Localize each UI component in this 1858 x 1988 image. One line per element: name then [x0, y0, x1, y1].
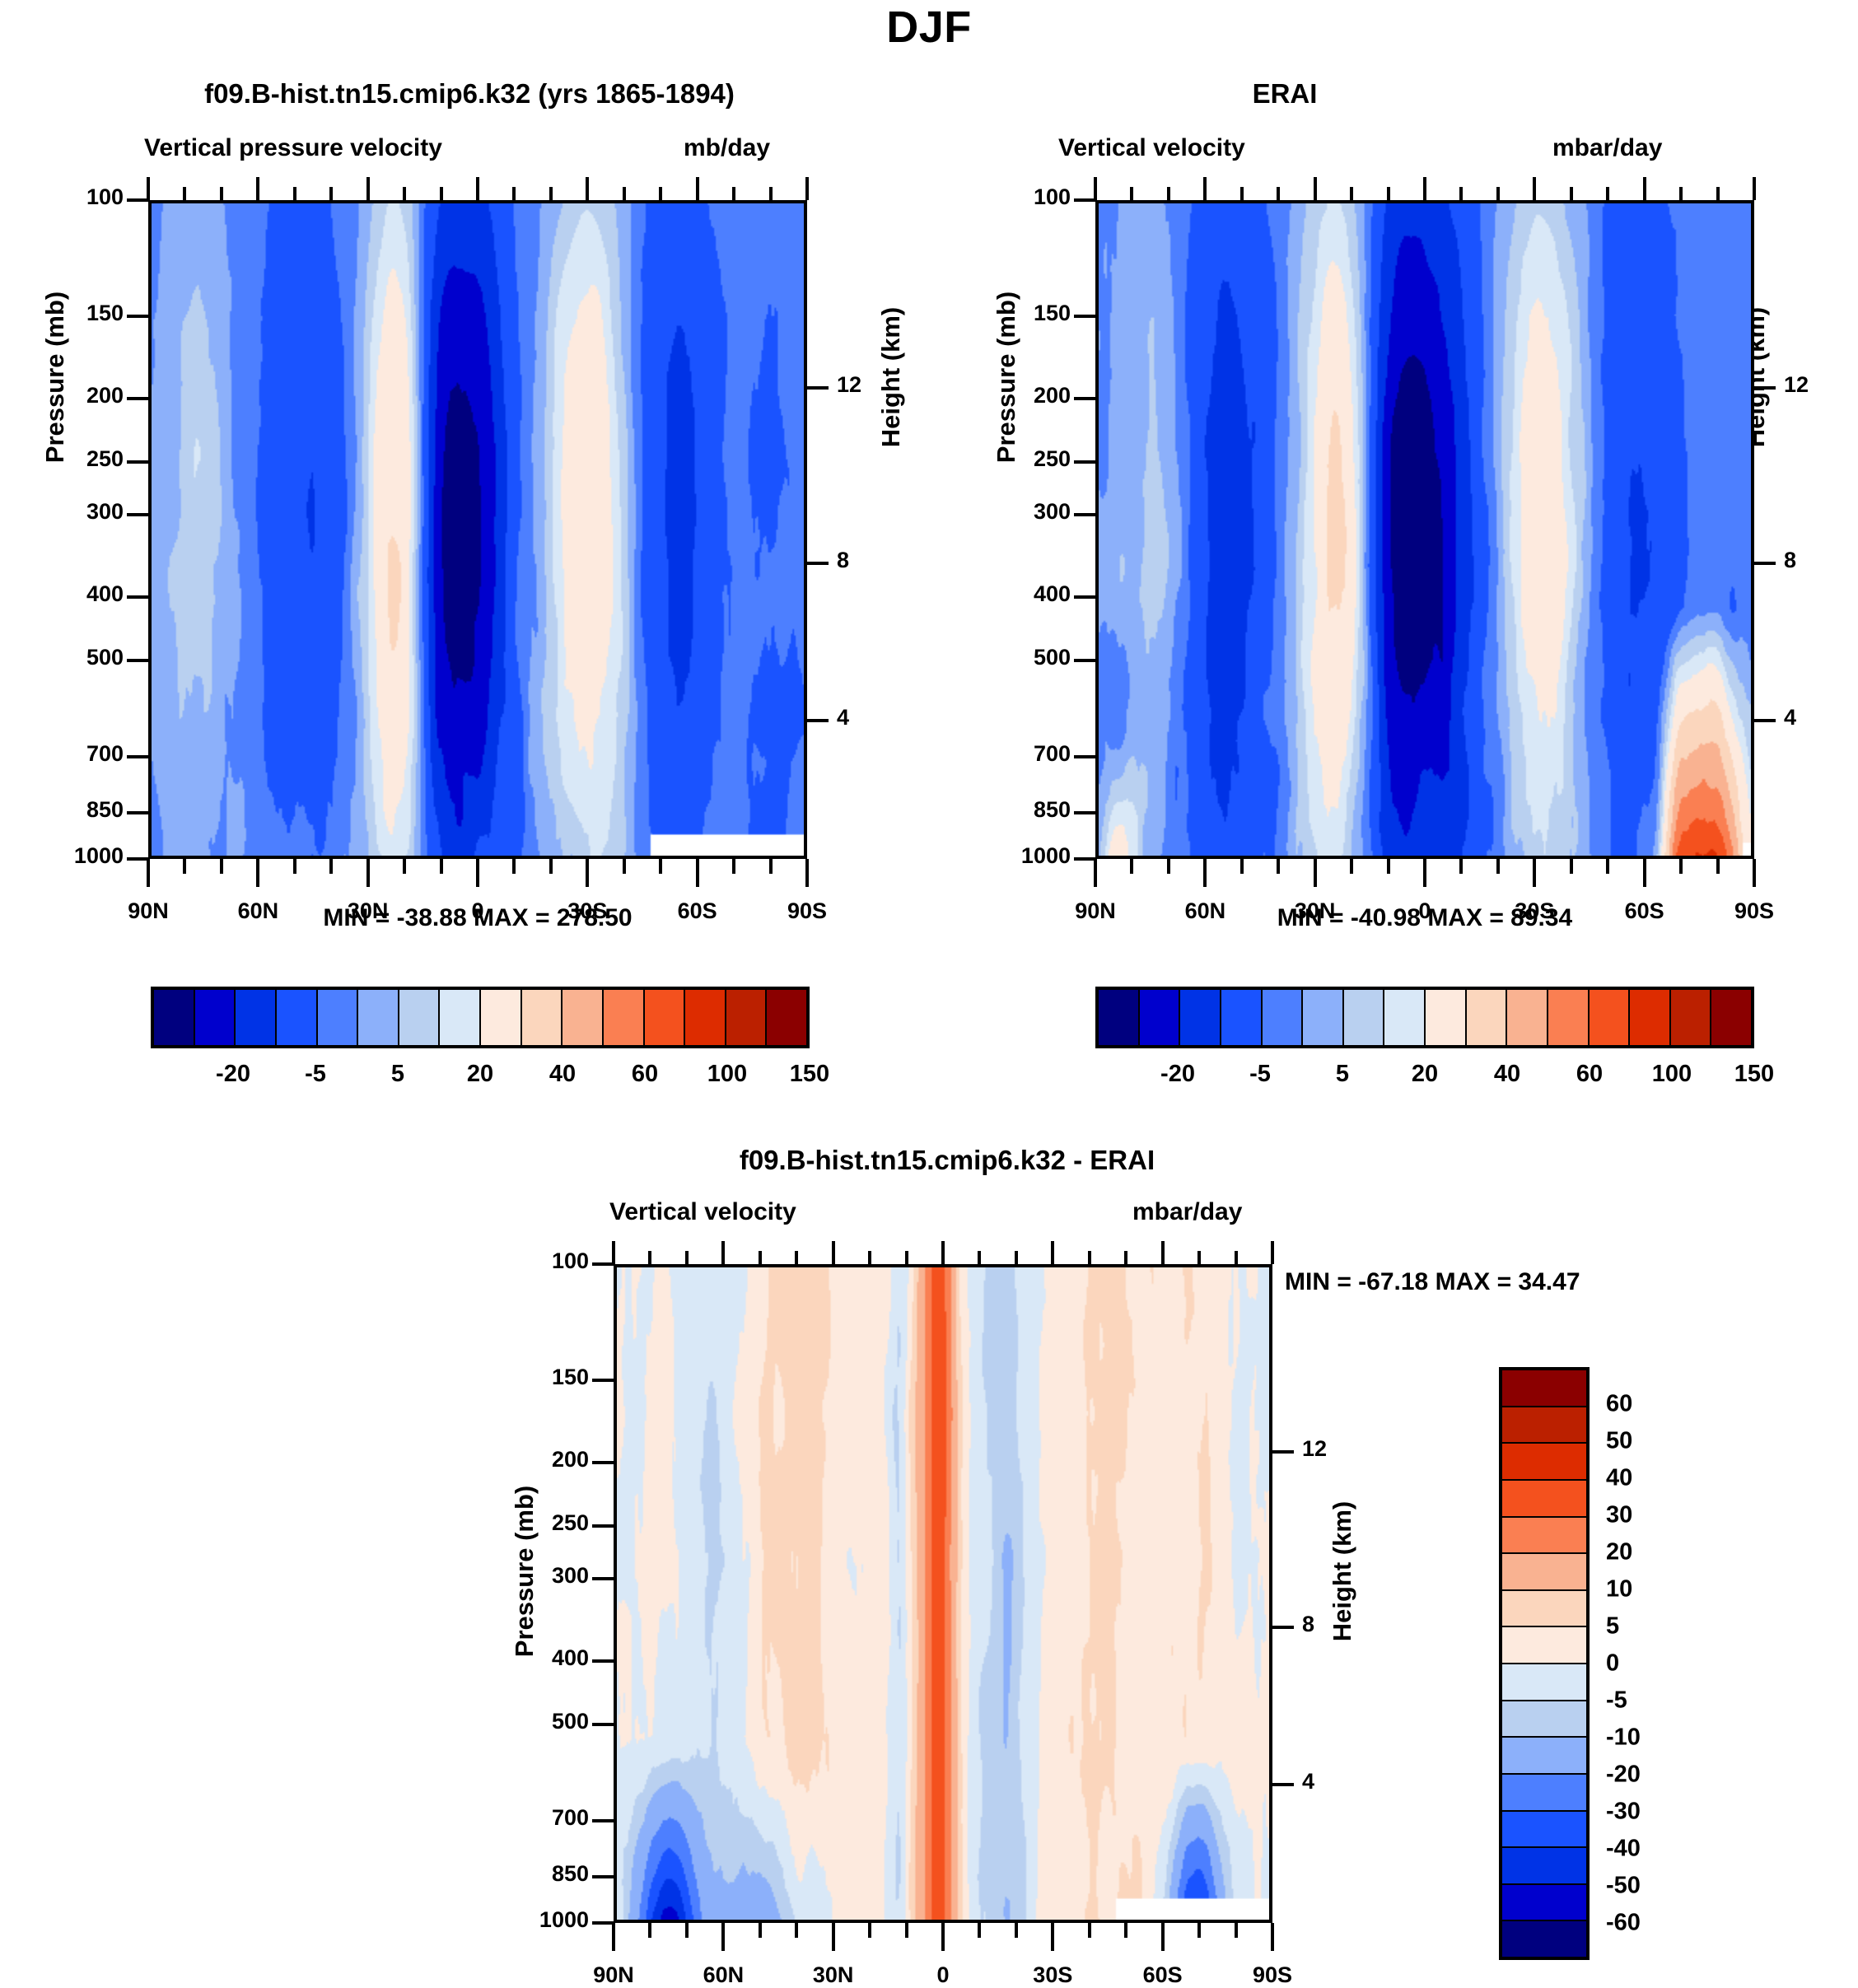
- colorbar-cell: [1140, 990, 1181, 1045]
- colorbar-cell: [1671, 990, 1712, 1045]
- colorbar-cell: [1502, 1812, 1586, 1849]
- panel-var-label-model: Vertical pressure velocity: [144, 134, 442, 162]
- colorbar-tick-label: 5: [391, 1061, 404, 1088]
- x-minor-tick: [1240, 859, 1244, 874]
- x-minor-tick-top: [978, 1251, 981, 1264]
- colorbar-cell: [440, 990, 481, 1045]
- colorbar-obs[interactable]: [1095, 987, 1754, 1048]
- x-tick-mark-top: [586, 177, 589, 200]
- colorbar-cell: [1502, 1885, 1586, 1922]
- colorbar-cell: [563, 990, 604, 1045]
- colorbar-tick-label: 20: [1412, 1061, 1438, 1088]
- x-minor-tick: [978, 1923, 981, 1938]
- contour-field-model: [152, 203, 804, 856]
- colorbar-cell: [154, 990, 195, 1045]
- x-minor-tick: [1679, 859, 1683, 874]
- x-minor-tick-top: [1167, 187, 1170, 200]
- colorbar-cell: [1502, 1481, 1586, 1518]
- x-tick-mark-top: [147, 177, 150, 200]
- colorbar-tick-label: 60: [1606, 1391, 1632, 1418]
- y-tick-mark: [1074, 198, 1095, 202]
- y-tick-mark: [592, 1379, 614, 1382]
- x-tick-mark-top: [1271, 1241, 1274, 1264]
- colorbar-tick-label: 40: [1606, 1465, 1632, 1492]
- y-tick-label: 500: [955, 645, 1071, 670]
- x-minor-tick: [512, 859, 516, 874]
- x-minor-tick: [623, 859, 626, 874]
- y2-tick-mark: [807, 386, 829, 390]
- x-minor-tick-top: [293, 187, 296, 200]
- colorbar-tick-label: -10: [1606, 1724, 1641, 1752]
- colorbar-cell: [1548, 990, 1590, 1045]
- x-minor-tick-top: [769, 187, 773, 200]
- x-tick-label: 0: [885, 1962, 1001, 1988]
- x-tick-mark: [832, 1923, 835, 1951]
- x-minor-tick-top: [1350, 187, 1353, 200]
- x-tick-label: 90N: [556, 1962, 671, 1988]
- colorbar-cell: [318, 990, 359, 1045]
- y-axis-title-obs: Pressure (mb): [992, 270, 1021, 484]
- x-minor-tick: [1350, 859, 1353, 874]
- y-tick-label: 850: [8, 797, 124, 823]
- x-minor-tick-top: [1496, 187, 1500, 200]
- x-minor-tick-top: [1716, 187, 1720, 200]
- colorbar-cell: [358, 990, 399, 1045]
- y-tick-mark: [1074, 460, 1095, 464]
- x-tick-mark: [366, 859, 370, 887]
- colorbar-cell: [1467, 990, 1508, 1045]
- x-minor-tick-top: [1387, 187, 1390, 200]
- colorbar-cell: [685, 990, 726, 1045]
- x-tick-mark-top: [366, 177, 370, 200]
- x-minor-tick: [769, 859, 773, 874]
- colorbar-tick-label: -20: [216, 1061, 250, 1088]
- x-tick-mark-top: [832, 1241, 835, 1264]
- y2-tick-label: 4: [1302, 1769, 1368, 1794]
- x-tick-mark: [1314, 859, 1317, 887]
- y2-tick-label: 12: [1302, 1436, 1368, 1462]
- y2-tick-mark: [807, 719, 829, 722]
- x-minor-tick: [1167, 859, 1170, 874]
- x-tick-mark-top: [805, 177, 809, 200]
- x-tick-mark: [1271, 1923, 1274, 1951]
- plot-area-model[interactable]: [148, 200, 807, 859]
- colorbar-tick-label: -5: [1249, 1061, 1271, 1088]
- x-tick-label: 30N: [776, 1962, 891, 1988]
- x-minor-tick-top: [512, 187, 516, 200]
- y-tick-mark: [1074, 595, 1095, 599]
- colorbar-cell: [1502, 1775, 1586, 1812]
- colorbar-cell: [1502, 1444, 1586, 1481]
- y2-tick-label: 8: [1784, 548, 1850, 573]
- x-tick-mark: [1643, 859, 1646, 887]
- x-tick-mark-top: [1753, 177, 1756, 200]
- colorbar-tick-label: 20: [1606, 1539, 1632, 1566]
- y2-tick-mark: [1272, 1783, 1294, 1786]
- x-minor-tick: [1387, 859, 1390, 874]
- x-minor-tick: [1235, 1923, 1238, 1938]
- colorbar-cell: [1507, 990, 1548, 1045]
- x-minor-tick-top: [1277, 187, 1280, 200]
- x-tick-mark-top: [612, 1241, 615, 1264]
- x-minor-tick: [1606, 859, 1609, 874]
- colorbar-cell: [1426, 990, 1467, 1045]
- colorbar-cell: [1711, 990, 1751, 1045]
- x-minor-tick: [659, 859, 662, 874]
- colorbar-tick-label: 40: [549, 1061, 576, 1088]
- x-tick-mark-top: [256, 177, 259, 200]
- x-minor-tick-top: [1570, 187, 1573, 200]
- x-tick-label: 30S: [995, 1962, 1110, 1988]
- y-tick-label: 850: [955, 797, 1071, 823]
- y-tick-mark: [1074, 513, 1095, 516]
- x-tick-mark: [1423, 859, 1426, 887]
- y2-tick-mark: [1272, 1626, 1294, 1629]
- colorbar-cell: [1502, 1701, 1586, 1738]
- colorbar-cell: [481, 990, 522, 1045]
- y-tick-label: 1000: [8, 843, 124, 869]
- colorbar-cell: [1263, 990, 1304, 1045]
- x-tick-mark: [1203, 859, 1207, 887]
- panel-title-model: f09.B-hist.tn15.cmip6.k32 (yrs 1865-1894…: [33, 78, 906, 110]
- colorbar-model[interactable]: [151, 987, 810, 1048]
- x-minor-tick: [329, 859, 333, 874]
- y-tick-label: 1000: [955, 843, 1071, 869]
- x-tick-label: 60N: [665, 1962, 781, 1988]
- x-minor-tick: [685, 1923, 689, 1938]
- panel-units-label-model: mb/day: [684, 134, 770, 162]
- x-minor-tick: [1277, 859, 1280, 874]
- colorbar-tick-label: 60: [632, 1061, 658, 1088]
- x-minor-tick: [440, 859, 443, 874]
- x-minor-tick: [1459, 859, 1463, 874]
- x-tick-mark-top: [1643, 177, 1646, 200]
- y2-axis-title-model: Height (km): [876, 270, 906, 484]
- y-tick-label: 100: [955, 184, 1071, 210]
- y-tick-mark: [592, 1524, 614, 1528]
- colorbar-tick-label: 5: [1336, 1061, 1349, 1088]
- x-tick-mark: [721, 1923, 725, 1951]
- colorbar-tick-label: -20: [1160, 1061, 1195, 1088]
- y-tick-label: 100: [474, 1248, 589, 1274]
- colorbar-cell: [236, 990, 277, 1045]
- panel-title-obs: ERAI: [955, 78, 1614, 110]
- y-tick-label: 1000: [474, 1907, 589, 1933]
- colorbar-cell: [1099, 990, 1140, 1045]
- colorbar-diff[interactable]: [1499, 1367, 1590, 1960]
- y-tick-mark: [1074, 659, 1095, 662]
- y-tick-label: 700: [955, 741, 1071, 767]
- x-minor-tick-top: [648, 1251, 651, 1264]
- x-minor-tick: [759, 1923, 762, 1938]
- x-minor-tick-top: [1606, 187, 1609, 200]
- y-tick-label: 500: [474, 1709, 589, 1734]
- colorbar-cell: [1344, 990, 1385, 1045]
- y-tick-mark: [1074, 397, 1095, 400]
- y-tick-mark: [127, 755, 148, 758]
- x-minor-tick-top: [329, 187, 333, 200]
- x-minor-tick: [868, 1923, 871, 1938]
- panel-var-label-diff: Vertical velocity: [609, 1198, 796, 1226]
- plot-area-diff[interactable]: [614, 1264, 1272, 1923]
- y-tick-mark: [592, 1461, 614, 1464]
- x-minor-tick-top: [732, 187, 735, 200]
- x-minor-tick: [549, 859, 553, 874]
- y2-tick-label: 12: [1784, 372, 1850, 398]
- x-minor-tick-top: [1130, 187, 1133, 200]
- x-tick-mark: [696, 859, 699, 887]
- x-minor-tick: [403, 859, 406, 874]
- plot-area-obs[interactable]: [1095, 200, 1754, 859]
- colorbar-tick-label: -60: [1606, 1910, 1641, 1937]
- figure-title: DJF: [0, 2, 1858, 53]
- x-minor-tick: [732, 859, 735, 874]
- minmax-model: MIN = -38.88 MAX = 278.50: [148, 904, 807, 932]
- x-minor-tick: [1124, 1923, 1127, 1938]
- colorbar-cell: [1502, 1591, 1586, 1628]
- x-minor-tick-top: [685, 1251, 689, 1264]
- x-tick-mark: [1753, 859, 1756, 887]
- colorbar-tick-label: 150: [1734, 1061, 1774, 1088]
- colorbar-cell: [1180, 990, 1221, 1045]
- x-minor-tick-top: [1235, 1251, 1238, 1264]
- y2-tick-label: 4: [837, 705, 903, 730]
- y-tick-mark: [127, 513, 148, 516]
- x-minor-tick: [1197, 1923, 1201, 1938]
- x-minor-tick: [795, 1923, 798, 1938]
- x-minor-tick-top: [220, 187, 223, 200]
- x-tick-mark: [805, 859, 809, 887]
- y-tick-label: 700: [8, 741, 124, 767]
- x-minor-tick-top: [1197, 1251, 1201, 1264]
- x-minor-tick-top: [905, 1251, 908, 1264]
- colorbar-cell: [645, 990, 686, 1045]
- x-tick-label: 90S: [1215, 1962, 1330, 1988]
- y-tick-mark: [127, 595, 148, 599]
- y-tick-mark: [592, 1262, 614, 1266]
- colorbar-tick-label: -30: [1606, 1799, 1641, 1826]
- colorbar-cell: [1502, 1627, 1586, 1664]
- y2-tick-label: 8: [837, 548, 903, 573]
- figure-root: DJF f09.B-hist.tn15.cmip6.k32 (yrs 1865-…: [0, 0, 1858, 1962]
- colorbar-cell: [767, 990, 806, 1045]
- y-tick-mark: [592, 1659, 614, 1663]
- y-tick-mark: [592, 1819, 614, 1822]
- panel-units-label-obs: mbar/day: [1552, 134, 1662, 162]
- y-tick-label: 400: [8, 581, 124, 607]
- y2-tick-mark: [1754, 562, 1776, 565]
- y-tick-mark: [127, 315, 148, 318]
- colorbar-cell: [1303, 990, 1344, 1045]
- colorbar-cell: [277, 990, 318, 1045]
- x-tick-label: 60S: [1105, 1962, 1221, 1988]
- y2-tick-mark: [1754, 719, 1776, 722]
- colorbar-tick-label: -5: [1606, 1687, 1627, 1715]
- y2-tick-label: 4: [1784, 705, 1850, 730]
- colorbar-tick-label: -40: [1606, 1836, 1641, 1863]
- x-tick-mark: [1161, 1923, 1165, 1951]
- x-tick-mark: [612, 1923, 615, 1951]
- x-minor-tick-top: [868, 1251, 871, 1264]
- colorbar-tick-label: 40: [1494, 1061, 1520, 1088]
- y-tick-mark: [127, 397, 148, 400]
- panel-var-label-obs: Vertical velocity: [1058, 134, 1245, 162]
- x-tick-mark-top: [721, 1241, 725, 1264]
- x-minor-tick-top: [403, 187, 406, 200]
- x-tick-mark-top: [1161, 1241, 1165, 1264]
- colorbar-tick-label: 20: [467, 1061, 493, 1088]
- x-minor-tick: [1570, 859, 1573, 874]
- colorbar-tick-label: 150: [790, 1061, 829, 1088]
- colorbar-labels-diff: 60504030201050-5-10-20-30-40-50-60: [1606, 1367, 1738, 1960]
- panel-units-label-diff: mbar/day: [1132, 1198, 1242, 1226]
- colorbar-labels-obs: -20-55204060100150: [1095, 1061, 1754, 1094]
- x-minor-tick: [648, 1923, 651, 1938]
- colorbar-cell: [1502, 1848, 1586, 1885]
- colorbar-cell: [604, 990, 645, 1045]
- colorbar-tick-label: 10: [1606, 1576, 1632, 1603]
- y-tick-label: 300: [955, 499, 1071, 525]
- y-tick-label: 300: [8, 499, 124, 525]
- colorbar-tick-label: 50: [1606, 1428, 1632, 1455]
- x-minor-tick: [293, 859, 296, 874]
- x-minor-tick-top: [1459, 187, 1463, 200]
- x-tick-mark-top: [1094, 177, 1097, 200]
- x-minor-tick: [1716, 859, 1720, 874]
- y-tick-mark: [1074, 811, 1095, 814]
- x-minor-tick: [183, 859, 186, 874]
- y-tick-mark: [592, 1921, 614, 1925]
- x-minor-tick-top: [795, 1251, 798, 1264]
- y-tick-mark: [592, 1723, 614, 1726]
- colorbar-tick-label: 30: [1606, 1502, 1632, 1529]
- colorbar-tick-label: 0: [1606, 1650, 1619, 1678]
- x-tick-mark: [1094, 859, 1097, 887]
- x-tick-mark: [476, 859, 479, 887]
- y-axis-title-model: Pressure (mb): [40, 270, 70, 484]
- x-tick-mark-top: [1314, 177, 1317, 200]
- colorbar-tick-label: -20: [1606, 1762, 1641, 1789]
- y2-tick-mark: [807, 562, 829, 565]
- x-tick-mark: [1533, 859, 1536, 887]
- y-tick-mark: [127, 198, 148, 202]
- colorbar-cell: [1502, 1407, 1586, 1444]
- colorbar-cell: [1630, 990, 1671, 1045]
- colorbar-cell: [1502, 1738, 1586, 1775]
- y-tick-mark: [127, 659, 148, 662]
- y-tick-label: 400: [955, 581, 1071, 607]
- x-tick-mark: [147, 859, 150, 887]
- x-tick-mark-top: [1423, 177, 1426, 200]
- x-minor-tick-top: [1088, 1251, 1091, 1264]
- y-axis-title-diff: Pressure (mb): [510, 1464, 539, 1678]
- minmax-diff: MIN = -67.18 MAX = 34.47: [1285, 1268, 1795, 1296]
- y-tick-label: 850: [474, 1861, 589, 1887]
- y-tick-label: 150: [474, 1365, 589, 1390]
- x-minor-tick-top: [1124, 1251, 1127, 1264]
- colorbar-tick-label: 100: [707, 1061, 747, 1088]
- colorbar-cell: [1502, 1370, 1586, 1407]
- x-tick-mark: [256, 859, 259, 887]
- y2-axis-title-diff: Height (km): [1328, 1464, 1357, 1678]
- y2-tick-mark: [1272, 1450, 1294, 1454]
- x-tick-mark-top: [1203, 177, 1207, 200]
- x-tick-mark-top: [1051, 1241, 1054, 1264]
- colorbar-cell: [1502, 1554, 1586, 1591]
- colorbar-cell: [726, 990, 768, 1045]
- x-tick-mark-top: [1533, 177, 1536, 200]
- colorbar-tick-label: -50: [1606, 1873, 1641, 1900]
- colorbar-tick-label: 100: [1652, 1061, 1692, 1088]
- y-tick-label: 500: [8, 645, 124, 670]
- x-minor-tick: [220, 859, 223, 874]
- y-tick-mark: [1074, 857, 1095, 861]
- colorbar-cell: [1502, 1921, 1586, 1957]
- y-tick-mark: [592, 1577, 614, 1580]
- y-tick-mark: [127, 857, 148, 861]
- colorbar-cell: [522, 990, 563, 1045]
- x-minor-tick-top: [440, 187, 443, 200]
- x-minor-tick: [905, 1923, 908, 1938]
- x-tick-mark: [586, 859, 589, 887]
- contour-field-obs: [1099, 203, 1751, 856]
- colorbar-labels-model: -20-55204060100150: [151, 1061, 810, 1094]
- colorbar-tick-label: 60: [1576, 1061, 1603, 1088]
- x-minor-tick: [1130, 859, 1133, 874]
- x-minor-tick: [1088, 1923, 1091, 1938]
- contour-field-diff: [617, 1267, 1269, 1920]
- colorbar-cell: [1221, 990, 1263, 1045]
- x-minor-tick-top: [183, 187, 186, 200]
- x-minor-tick-top: [1240, 187, 1244, 200]
- y-tick-label: 100: [8, 184, 124, 210]
- minmax-obs: MIN = -40.98 MAX = 89.34: [1095, 904, 1754, 932]
- y-tick-mark: [1074, 755, 1095, 758]
- colorbar-cell: [1502, 1518, 1586, 1555]
- x-tick-mark-top: [476, 177, 479, 200]
- x-minor-tick-top: [659, 187, 662, 200]
- y-tick-mark: [127, 811, 148, 814]
- x-minor-tick-top: [1015, 1251, 1018, 1264]
- colorbar-cell: [195, 990, 236, 1045]
- x-minor-tick: [1496, 859, 1500, 874]
- panel-title-diff: f09.B-hist.tn15.cmip6.k32 - ERAI: [511, 1145, 1384, 1176]
- x-minor-tick-top: [549, 187, 553, 200]
- colorbar-cell: [1384, 990, 1426, 1045]
- x-tick-mark: [1051, 1923, 1054, 1951]
- y-tick-mark: [1074, 315, 1095, 318]
- y-tick-mark: [127, 460, 148, 464]
- x-minor-tick-top: [623, 187, 626, 200]
- x-minor-tick-top: [1679, 187, 1683, 200]
- y-tick-mark: [592, 1875, 614, 1878]
- x-minor-tick-top: [759, 1251, 762, 1264]
- x-tick-mark-top: [696, 177, 699, 200]
- colorbar-cell: [1502, 1664, 1586, 1701]
- colorbar-tick-label: -5: [305, 1061, 326, 1088]
- colorbar-cell: [399, 990, 441, 1045]
- y-tick-label: 700: [474, 1805, 589, 1831]
- colorbar-cell: [1590, 990, 1631, 1045]
- x-tick-mark: [941, 1923, 945, 1951]
- x-minor-tick: [1015, 1923, 1018, 1938]
- colorbar-tick-label: 5: [1606, 1613, 1619, 1640]
- x-tick-mark-top: [941, 1241, 945, 1264]
